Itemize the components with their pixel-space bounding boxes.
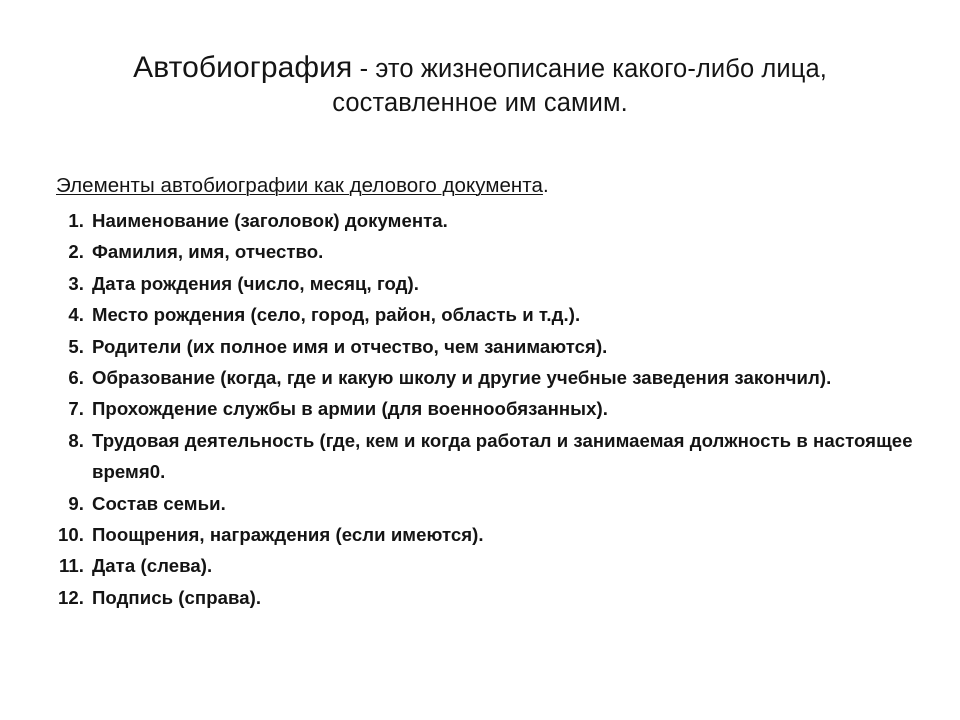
list-item: 6. Образование (когда, где и какую школу… (56, 362, 936, 393)
list-item-number: 9. (56, 488, 92, 519)
list-item-number: 1. (56, 205, 92, 236)
list-item-text: Образование (когда, где и какую школу и … (92, 362, 936, 393)
slide-canvas: Автобиография - это жизнеописание какого… (0, 0, 960, 720)
section-heading-period: . (543, 174, 549, 197)
list-item-text: Поощрения, награждения (если имеются). (92, 519, 936, 550)
list-item: 2. Фамилия, имя, отчество. (56, 236, 936, 267)
autobiography-elements-list: 1. Наименование (заголовок) документа. 2… (56, 205, 936, 613)
list-item-text: Дата (слева). (92, 550, 936, 581)
list-item: 9. Состав семьи. (56, 488, 936, 519)
list-item-number: 11. (56, 550, 92, 581)
list-item-number: 4. (56, 299, 92, 330)
list-item-text: Трудовая деятельность (где, кем и когда … (92, 425, 922, 488)
list-item-text: Прохождение службы в армии (для военнооб… (92, 393, 936, 424)
list-item-text: Место рождения (село, город, район, обла… (92, 299, 936, 330)
list-item-number: 8. (56, 425, 92, 456)
section-heading: Элементы автобиографии как делового доку… (56, 174, 549, 198)
list-item: 8. Трудовая деятельность (где, кем и ког… (56, 425, 936, 488)
list-item-text: Фамилия, имя, отчество. (92, 236, 936, 267)
list-item: 4. Место рождения (село, город, район, о… (56, 299, 936, 330)
list-item-text: Родители (их полное имя и отчество, чем … (92, 331, 936, 362)
list-item-number: 3. (56, 268, 92, 299)
list-item-text: Подпись (справа). (92, 582, 936, 613)
list-item-number: 2. (56, 236, 92, 267)
list-item-number: 5. (56, 331, 92, 362)
list-item: 5. Родители (их полное имя и отчество, ч… (56, 331, 936, 362)
list-item: 10. Поощрения, награждения (если имеются… (56, 519, 936, 550)
list-item: 7. Прохождение службы в армии (для военн… (56, 393, 936, 424)
list-item: 12. Подпись (справа). (56, 582, 936, 613)
list-item-number: 10. (56, 519, 92, 550)
list-item: 11. Дата (слева). (56, 550, 936, 581)
list-item-text: Состав семьи. (92, 488, 936, 519)
list-item-number: 12. (56, 582, 92, 613)
section-heading-underlined-text: Элементы автобиографии как делового доку… (56, 174, 543, 197)
page-title-lead: Автобиография (133, 51, 352, 84)
list-item: 1. Наименование (заголовок) документа. (56, 205, 936, 236)
list-item: 3. Дата рождения (число, месяц, год). (56, 268, 936, 299)
page-title: Автобиография - это жизнеописание какого… (60, 48, 900, 120)
list-item-number: 7. (56, 393, 92, 424)
list-item-number: 6. (56, 362, 92, 393)
list-item-text: Наименование (заголовок) документа. (92, 205, 936, 236)
page-title-rest: - это жизнеописание какого-либо лица, со… (332, 55, 827, 117)
list-item-text: Дата рождения (число, месяц, год). (92, 268, 936, 299)
